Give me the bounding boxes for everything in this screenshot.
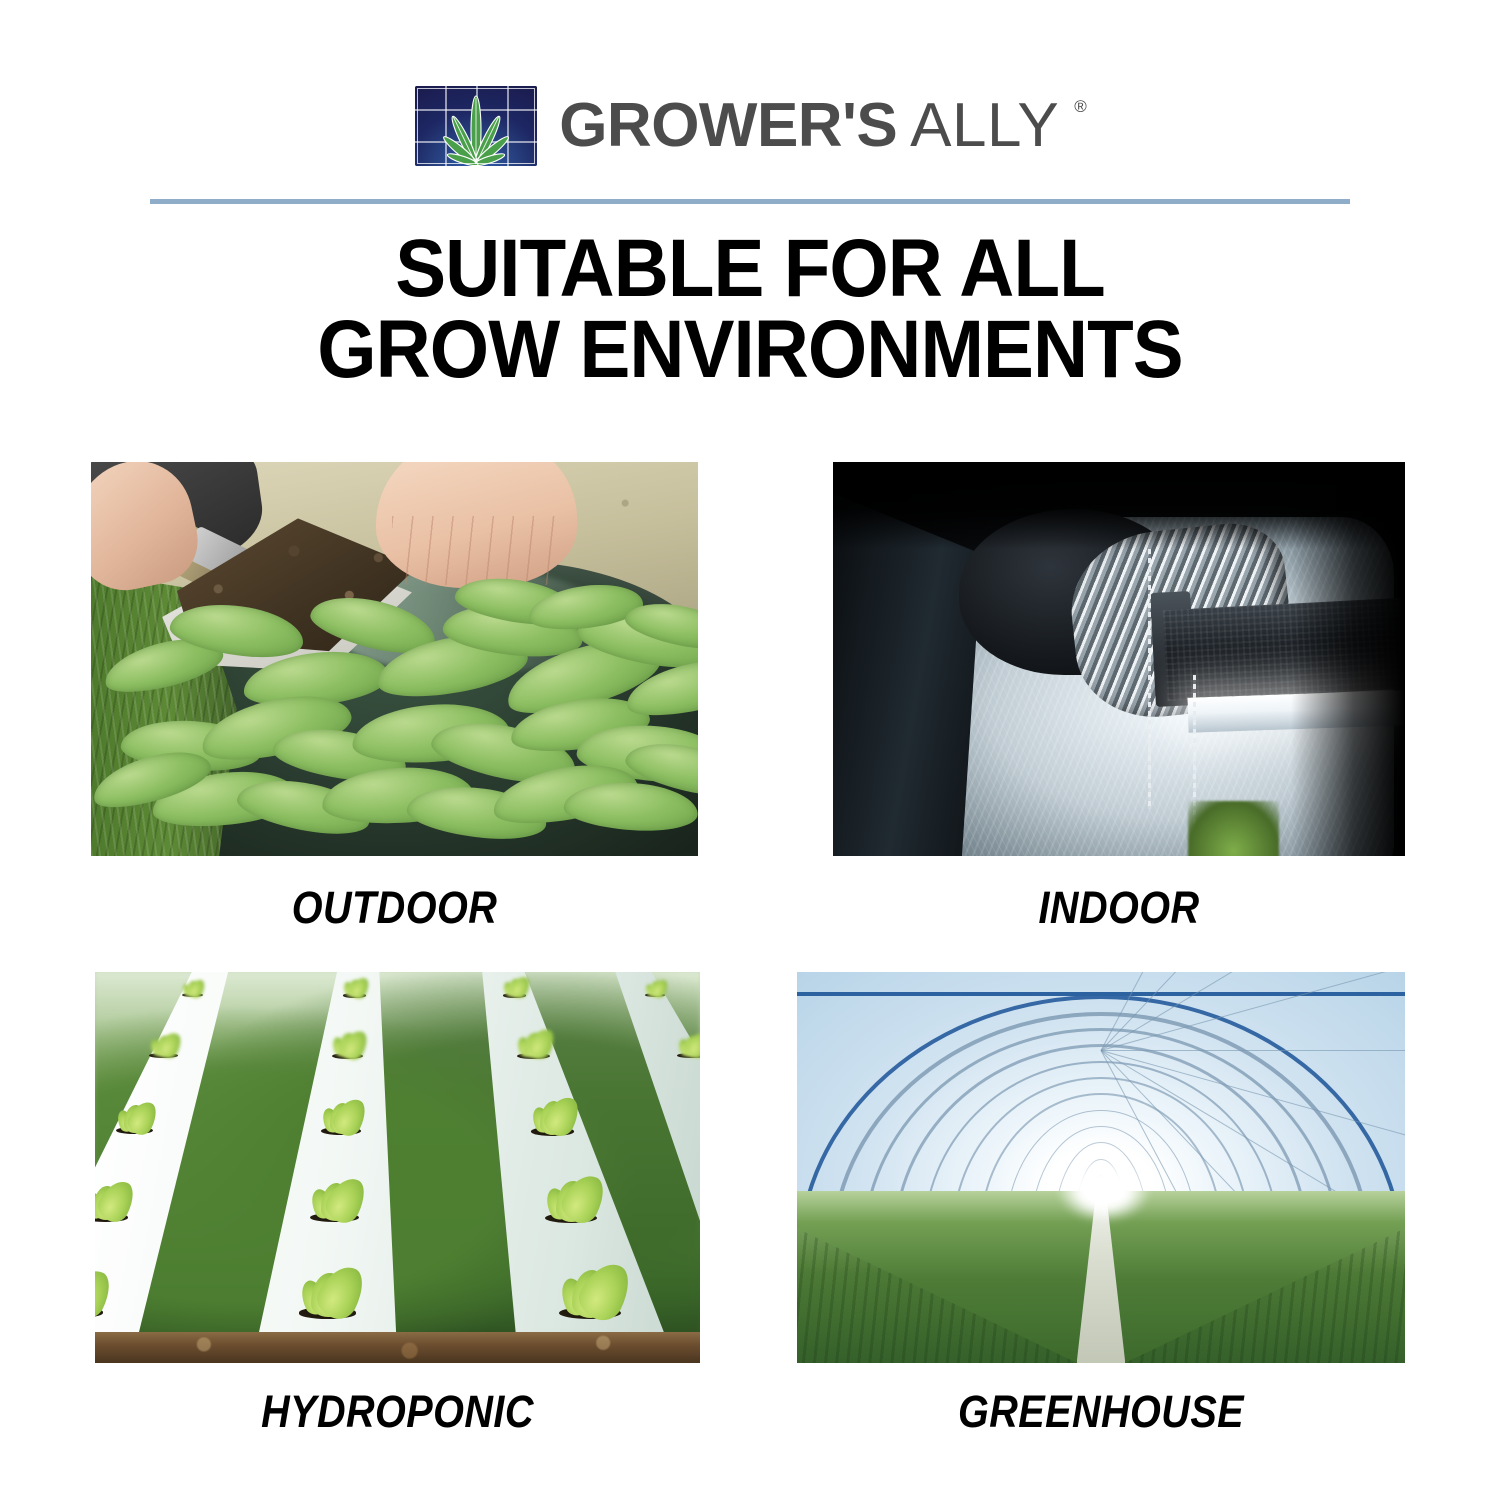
photo-hydroponic [95,972,700,1363]
outdoor-scene-illustration [91,462,698,856]
registered-trademark-icon: ® [1074,97,1087,117]
product-infographic-page: GROWER'S ALLY ® SUITABLE FOR ALL GROW EN… [0,0,1500,1500]
photo-indoor [833,462,1405,856]
rusty-frame-rail [95,1332,700,1363]
page-title-line1: SUITABLE FOR ALL [395,223,1105,314]
logo-border [417,88,535,164]
right-hand [376,462,576,588]
caption-indoor: INDOOR [867,882,1370,934]
photo-outdoor [91,462,698,856]
plant-foliage [91,596,698,856]
photo-greenhouse [797,972,1405,1363]
hydroponic-scene-illustration [95,972,700,1363]
support-wire [1101,1050,1405,1051]
vanishing-point-glow [1058,1160,1149,1223]
cannabis-leaf-logo-icon [415,86,537,166]
caption-outdoor: OUTDOOR [127,882,661,934]
page-title-line2: GROW ENVIRONMENTS [53,309,1448,390]
brand-name-bold: GROWER'S [559,95,897,157]
caption-greenhouse: GREENHOUSE [833,1386,1368,1438]
caption-hydroponic: HYDROPONIC [131,1386,663,1438]
hanging-chain [1148,549,1151,809]
brand-header: GROWER'S ALLY ® [0,84,1500,168]
page-title: SUITABLE FOR ALL GROW ENVIRONMENTS [53,228,1448,390]
right-shadow [1291,462,1405,856]
brand-name-light: ALLY [910,95,1059,157]
indoor-scene-illustration [833,462,1405,856]
ridge-beam [797,992,1405,996]
header-divider [150,199,1350,204]
brand-wordmark: GROWER'S ALLY ® [559,95,1085,157]
greenhouse-scene-illustration [797,972,1405,1363]
cannabis-plant [1188,801,1280,856]
